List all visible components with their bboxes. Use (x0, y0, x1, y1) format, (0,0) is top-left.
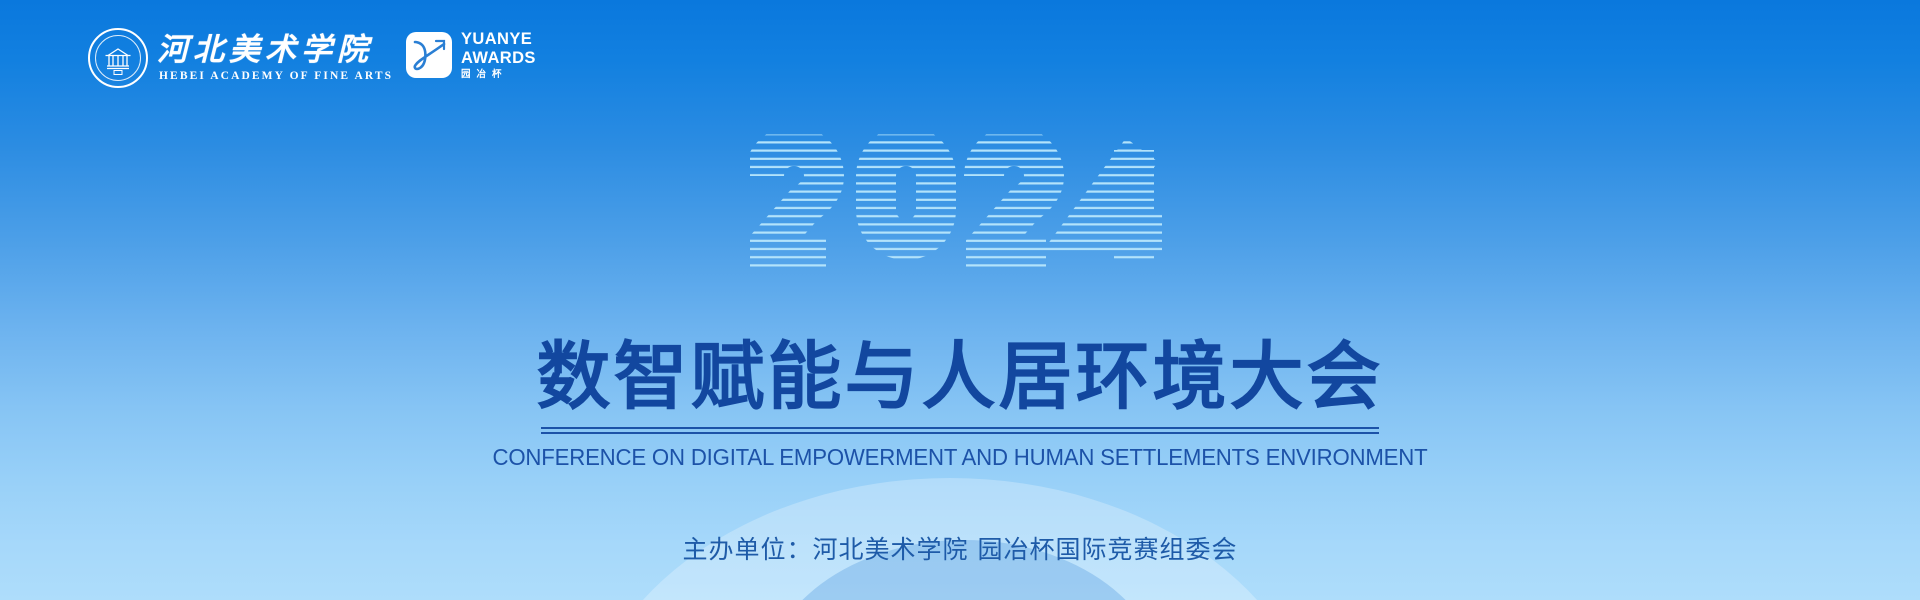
title-block: 数智赋能与人居环境大会 CONFERENCE ON DIGITAL EMPOWE… (0, 338, 1920, 471)
conference-banner: 河北美术学院 HEBEI ACADEMY OF FINE ARTS YUANYE… (0, 0, 1920, 600)
divider-line-bottom (541, 432, 1379, 434)
yuanye-wordmark: YUANYE AWARDS 园冶杯 (461, 31, 536, 79)
hebei-academy-wordmark: 河北美术学院 HEBEI ACADEMY OF FINE ARTS (157, 34, 393, 82)
yuanye-line2: AWARDS (461, 50, 536, 67)
page-title: 数智赋能与人居环境大会 (0, 338, 1920, 418)
page-subtitle-en: CONFERENCE ON DIGITAL EMPOWERMENT AND HU… (34, 444, 1887, 471)
hebei-academy-logo: 河北美术学院 HEBEI ACADEMY OF FINE ARTS (88, 28, 393, 88)
yuanye-line3-cn: 园冶杯 (461, 70, 536, 80)
hebei-name-en: HEBEI ACADEMY OF FINE ARTS (157, 70, 393, 82)
yuanye-y-mark-icon (406, 32, 452, 78)
host-organizers-line: 主办单位：河北美术学院 园冶杯国际竞赛组委会 (0, 530, 1920, 566)
yuanye-awards-logo: YUANYE AWARDS 园冶杯 (406, 31, 536, 79)
logo-bar: 河北美术学院 HEBEI ACADEMY OF FINE ARTS YUANYE… (0, 0, 1920, 110)
hebei-name-cn: 河北美术学院 (157, 34, 393, 67)
title-divider (541, 427, 1379, 434)
divider-line-top (541, 427, 1379, 429)
yuanye-line1: YUANYE (461, 31, 536, 48)
circular-academy-seal-icon (88, 28, 148, 88)
year-2024-graphic (750, 130, 1170, 270)
